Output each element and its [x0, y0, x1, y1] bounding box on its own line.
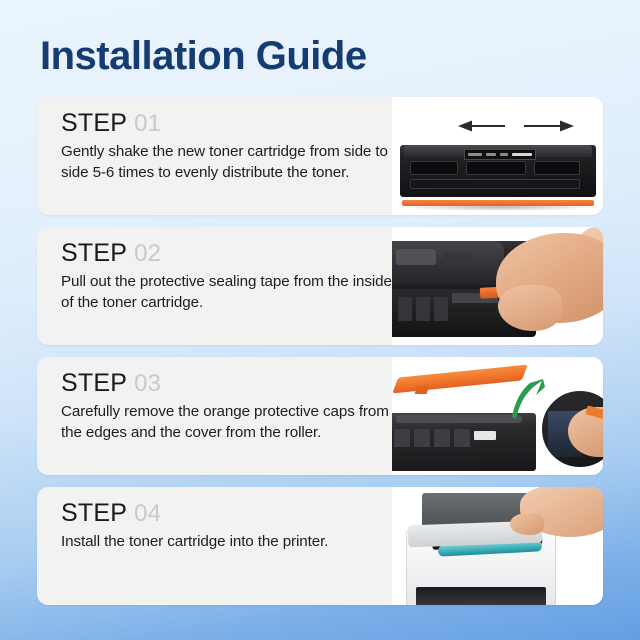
step-heading-03: STEP03 [61, 369, 392, 398]
drum-top-rail [396, 415, 522, 423]
cartridge-vent [398, 297, 412, 321]
steps-list: STEP01 Gently shake the new toner cartri… [37, 97, 603, 605]
page-title: Installation Guide [37, 0, 603, 78]
drum-gear-block [394, 429, 410, 447]
step-text-03: STEP03 Carefully remove the orange prote… [37, 357, 392, 475]
step-card-02: STEP02 Pull out the protective sealing t… [37, 227, 603, 345]
label-text-line [500, 153, 508, 156]
step-card-04: STEP04 Install the toner cartridge into … [37, 487, 603, 605]
step-heading-01: STEP01 [61, 109, 392, 138]
step-label: STEP [61, 369, 127, 397]
step-heading-04: STEP04 [61, 499, 392, 528]
label-text-line [468, 153, 482, 156]
step-heading-02: STEP02 [61, 239, 392, 268]
step-description-04: Install the toner cartridge into the pri… [61, 531, 392, 553]
orange-protective-strip [402, 200, 594, 206]
cartridge-vent [444, 253, 470, 265]
drum-gear-block [414, 429, 430, 447]
installation-guide-page: Installation Guide STEP01 Gently shake t… [0, 0, 640, 640]
step-card-01: STEP01 Gently shake the new toner cartri… [37, 97, 603, 215]
cartridge-base-panel [410, 179, 580, 189]
step-label: STEP [61, 109, 127, 137]
cartridge-vent [416, 297, 430, 321]
label-text-line [486, 153, 496, 156]
step-card-03: STEP03 Carefully remove the orange prote… [37, 357, 603, 475]
step-description-02: Pull out the protective sealing tape fro… [61, 271, 392, 314]
circular-inset [540, 389, 603, 469]
finger [510, 513, 544, 535]
step-number: 02 [134, 240, 161, 267]
paper-tray [416, 587, 546, 605]
step-text-02: STEP02 Pull out the protective sealing t… [37, 227, 392, 345]
step-number: 04 [134, 500, 161, 527]
step-text-01: STEP01 Gently shake the new toner cartri… [37, 97, 392, 215]
label-text-line [512, 153, 532, 156]
step-image-03 [392, 357, 603, 475]
orange-cover-nub [415, 386, 430, 394]
cartridge-slot [534, 161, 580, 175]
step-number: 03 [134, 370, 161, 397]
cartridge-slot [466, 161, 526, 175]
step-text-04: STEP04 Install the toner cartridge into … [37, 487, 392, 605]
step-label: STEP [61, 239, 127, 267]
step-description-03: Carefully remove the orange protective c… [61, 401, 392, 444]
step-label: STEP [61, 499, 127, 527]
double-headed-arrow-icon [456, 119, 576, 133]
cartridge-slot [410, 161, 458, 175]
drum-gear-block [454, 429, 470, 447]
orange-protective-cover [392, 365, 528, 394]
step-description-01: Gently shake the new toner cartridge fro… [61, 141, 392, 184]
step-image-01 [392, 97, 603, 215]
cartridge-handle-recess [396, 249, 436, 265]
cartridge-vent [434, 297, 448, 321]
drum-label [474, 431, 496, 440]
step-image-04 [392, 487, 603, 605]
drum-gear-block [434, 429, 450, 447]
step-image-02 [392, 227, 603, 345]
step-number: 01 [134, 110, 161, 137]
